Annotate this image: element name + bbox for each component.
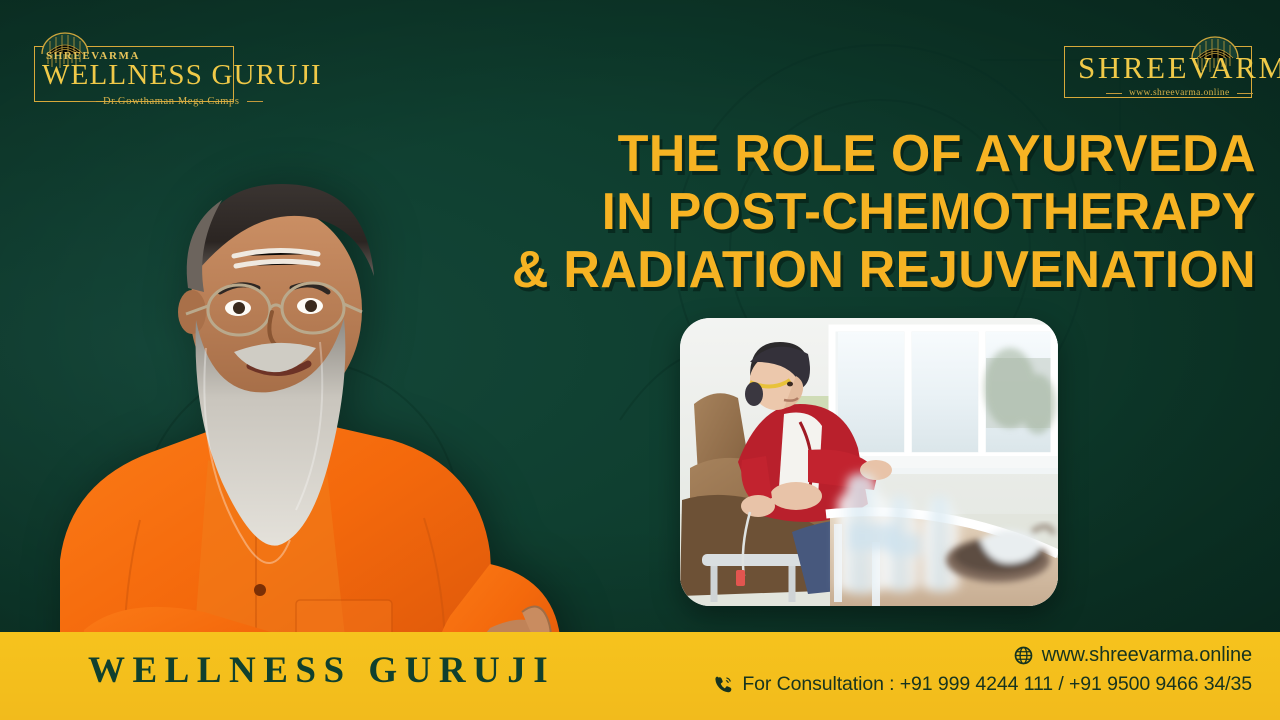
footer-brand: WELLNESS GURUJI: [88, 649, 555, 692]
poster-canvas: SHREEVARMA WELLNESS GURUJI Dr.Gowthaman …: [0, 0, 1280, 720]
footer-contact-block: www.shreevarma.online For Consultation :…: [714, 644, 1252, 696]
chemotherapy-patient-photo: [680, 318, 1058, 606]
phone-row[interactable]: For Consultation : +91 999 4244 111 / +9…: [714, 673, 1252, 696]
tagline-rule-right: [1237, 93, 1253, 94]
globe-icon: [1014, 646, 1033, 665]
logo-shreevarma[interactable]: SHREEVARMA www.shreevarma.online: [1064, 36, 1252, 98]
website-row[interactable]: www.shreevarma.online: [714, 644, 1252, 667]
logo-tagline: www.shreevarma.online: [1106, 88, 1253, 98]
tagline-rule-left: [80, 101, 96, 102]
logo-title: WELLNESS GURUJI: [42, 59, 322, 92]
footer-bar: WELLNESS GURUJI www.shreevarma.online Fo…: [0, 632, 1280, 720]
phone-text: For Consultation : +91 999 4244 111 / +9…: [742, 673, 1252, 696]
website-text: www.shreevarma.online: [1042, 644, 1252, 667]
tagline-text: www.shreevarma.online: [1129, 88, 1230, 98]
tagline-rule-left: [1106, 93, 1122, 94]
phone-icon: [714, 675, 733, 694]
logo-tagline: Dr.Gowthaman Mega Camps: [80, 96, 263, 107]
tagline-text: Dr.Gowthaman Mega Camps: [103, 96, 240, 107]
tagline-rule-right: [247, 101, 263, 102]
logo-title: SHREEVARMA: [1078, 50, 1280, 86]
feature-photo-card: [680, 318, 1058, 606]
logo-wellness-guruji[interactable]: SHREEVARMA WELLNESS GURUJI Dr.Gowthaman …: [18, 28, 234, 104]
